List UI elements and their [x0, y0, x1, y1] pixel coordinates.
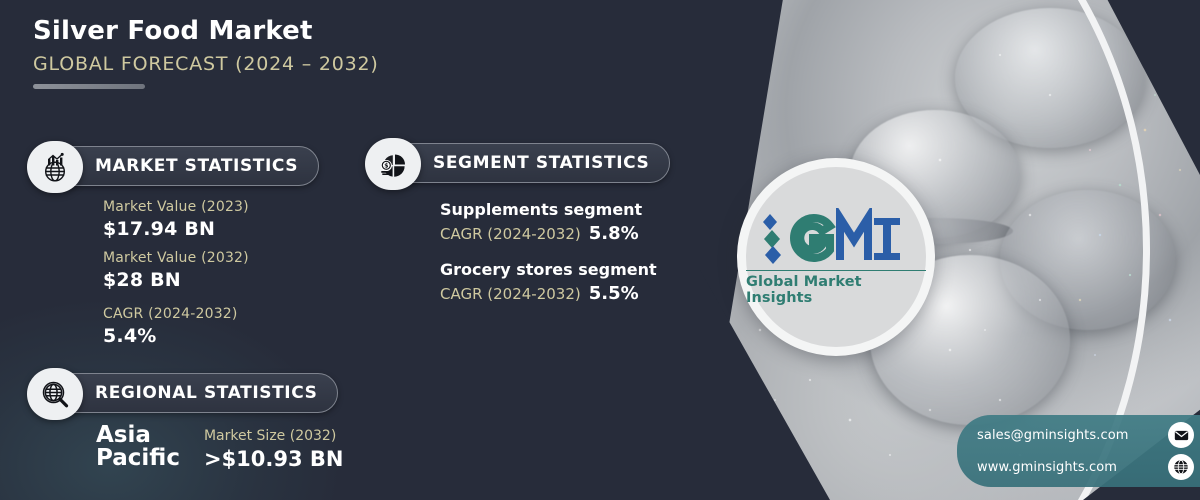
globe-icon[interactable]	[1168, 454, 1194, 480]
title-accent-bar	[33, 84, 145, 89]
page-subtitle: GLOBAL FORECAST (2024 – 2032)	[33, 53, 379, 75]
regional-statistics-label: REGIONAL STATISTICS	[95, 383, 317, 403]
stat-label: CAGR (2024-2032)	[103, 306, 238, 322]
region-size-label: Market Size (2032)	[204, 428, 344, 444]
page-title: Silver Food Market	[33, 16, 379, 46]
globe-bar-chart-icon	[27, 141, 83, 193]
stat-label: Market Value (2032)	[103, 250, 249, 266]
header: Silver Food Market GLOBAL FORECAST (2024…	[33, 16, 379, 89]
stat-value: $17.94 BN	[103, 218, 249, 240]
segment-statistics-badge[interactable]: $ SEGMENT STATISTICS	[374, 143, 670, 183]
contact-website-row[interactable]: www.gminsights.com	[977, 454, 1194, 480]
contact-email-row[interactable]: sales@gminsights.com	[977, 422, 1194, 448]
segment-cagr-label: CAGR (2024-2032)	[440, 285, 581, 303]
infographic-canvas: Silver Food Market GLOBAL FORECAST (2024…	[0, 0, 1200, 500]
regional-statistics-badge[interactable]: REGIONAL STATISTICS	[36, 373, 338, 413]
region-size-block: Market Size (2032) >$10.93 BN	[204, 424, 344, 471]
segment-item: Supplements segment CAGR (2024-2032) 5.8…	[440, 200, 657, 244]
gmi-logo-mark	[756, 208, 916, 266]
stat-row: Market Value (2023) $17.94 BN	[103, 198, 249, 240]
segment-name: Supplements segment	[440, 200, 657, 219]
segment-cagr-label: CAGR (2024-2032)	[440, 225, 581, 243]
gmi-logo-badge: Global Market Insights	[737, 158, 935, 356]
segment-item: Grocery stores segment CAGR (2024-2032) …	[440, 260, 657, 304]
market-statistics-list: Market Value (2023) $17.94 BN Market Val…	[103, 198, 249, 356]
segment-statistics-list: Supplements segment CAGR (2024-2032) 5.8…	[440, 200, 657, 320]
envelope-icon[interactable]	[1168, 422, 1194, 448]
contact-website-text: www.gminsights.com	[977, 460, 1117, 475]
svg-text:$: $	[384, 163, 388, 170]
pie-chart-dollar-icon: $	[365, 138, 421, 190]
region-name-line-1: Asia	[96, 424, 180, 447]
stat-value: $28 BN	[103, 269, 249, 291]
stat-label: Market Value (2023)	[103, 199, 249, 215]
market-statistics-badge[interactable]: MARKET STATISTICS	[36, 146, 319, 186]
region-name-block: Asia Pacific	[96, 424, 180, 471]
stat-value: 5.4%	[103, 325, 249, 347]
stat-row: Market Value (2032) $28 BN	[103, 249, 249, 291]
gmi-logo-tagline: Global Market Insights	[746, 270, 926, 306]
segment-cagr-value: 5.8%	[589, 223, 639, 244]
region-name-line-2: Pacific	[96, 447, 180, 470]
contact-box: sales@gminsights.com www.gminsights.com	[957, 415, 1200, 487]
globe-magnifier-icon	[27, 368, 83, 420]
segment-statistics-label: SEGMENT STATISTICS	[433, 153, 649, 173]
segment-cagr-value: 5.5%	[589, 283, 639, 304]
stat-row: CAGR (2024-2032) 5.4%	[103, 305, 249, 347]
market-statistics-label: MARKET STATISTICS	[95, 156, 298, 176]
segment-name: Grocery stores segment	[440, 260, 657, 279]
regional-statistics-content: Asia Pacific Market Size (2032) >$10.93 …	[96, 424, 344, 471]
region-size-value: >$10.93 BN	[204, 447, 344, 471]
contact-email-text: sales@gminsights.com	[977, 428, 1129, 443]
